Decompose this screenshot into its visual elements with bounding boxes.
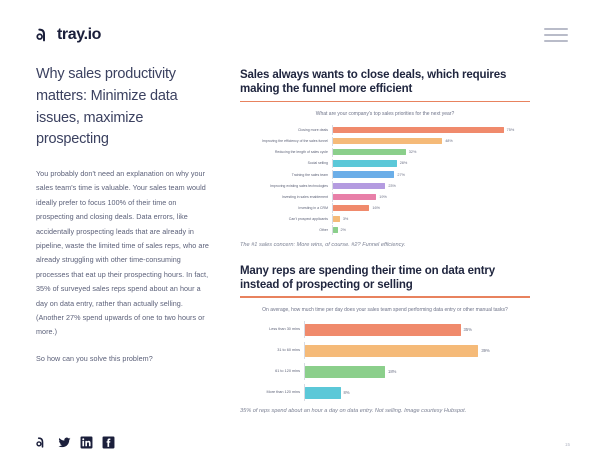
- chart-caption: 35% of reps spend about an hour a day on…: [240, 408, 530, 416]
- chart-category-label: Improving existing sales technologies: [240, 184, 332, 188]
- chart-bar-track: 23%: [332, 181, 530, 191]
- chart-category-label: Reducing the length of sales cycle: [240, 150, 332, 154]
- chart-bar-track: 16%: [332, 203, 530, 213]
- chart-value-label: 27%: [397, 173, 405, 177]
- chart-bar: [333, 160, 397, 166]
- chart-bar: [333, 183, 385, 189]
- brand-logo[interactable]: tray.io: [36, 26, 101, 44]
- chart-bar-track: 39%: [304, 342, 530, 359]
- chart-value-label: 2%: [341, 228, 347, 232]
- chart-bar-row: Improving the efficiency of the sales fu…: [240, 137, 530, 147]
- chart-category-label: Can't prospect applicants: [240, 217, 332, 221]
- chart-category-label: 61 to 120 mins: [240, 369, 304, 373]
- chart-category-label: Less than 30 mins: [240, 327, 304, 331]
- chart-bar: [305, 324, 461, 336]
- chart-bar-track: 2%: [332, 225, 530, 235]
- chart-bar-row: Can't prospect applicants3%: [240, 214, 530, 224]
- chart-category-label: Investing in a CRM: [240, 206, 332, 210]
- chart-value-label: 32%: [409, 150, 417, 154]
- facebook-icon[interactable]: [102, 436, 115, 449]
- section-title: Sales always wants to close deals, which…: [240, 68, 530, 97]
- chart-bar-track: 19%: [332, 192, 530, 202]
- chart-category-label: Improving the efficiency of the sales fu…: [240, 139, 332, 143]
- linkedin-icon[interactable]: [80, 436, 93, 449]
- article-paragraph: So how can you solve this problem?: [36, 352, 211, 366]
- brand-logo-text: tray.io: [57, 26, 101, 44]
- chart-bar: [333, 138, 442, 144]
- chart-title: On average, how much time per day does y…: [240, 307, 530, 315]
- chart-bar: [305, 387, 341, 399]
- chart-value-label: 35%: [464, 327, 472, 332]
- chart-bar-track: 32%: [332, 148, 530, 158]
- chart-section-1: Sales always wants to close deals, which…: [240, 68, 530, 250]
- chart-bar: [305, 366, 385, 378]
- chart-category-label: Training the sales team: [240, 173, 332, 177]
- article-paragraph: You probably don't need an explanation o…: [36, 167, 211, 340]
- chart-value-label: 3%: [343, 217, 349, 221]
- chart-bar-row: Other2%: [240, 225, 530, 235]
- chart-bar: [333, 127, 504, 133]
- section-divider: [240, 101, 530, 102]
- chart-value-label: 75%: [507, 128, 515, 132]
- chart-value-label: 39%: [481, 348, 489, 353]
- chart-value-label: 28%: [400, 161, 408, 165]
- chart-bar-row: Closing more deals75%: [240, 125, 530, 135]
- chart-value-label: 23%: [388, 184, 396, 188]
- chart-bar-row: More than 120 mins8%: [240, 384, 530, 401]
- chart-category-label: 31 to 60 mins: [240, 348, 304, 352]
- section-title: Many reps are spending their time on dat…: [240, 264, 530, 293]
- page-number: 15: [565, 442, 570, 447]
- chart-category-label: Other: [240, 228, 332, 232]
- chart-category-label: Investing in sales enablement: [240, 195, 332, 199]
- chart-bar: [333, 216, 340, 222]
- chart-bar-track: 75%: [332, 125, 530, 135]
- chart-value-label: 16%: [372, 206, 380, 210]
- hamburger-line: [544, 28, 568, 30]
- twitter-icon[interactable]: [58, 436, 71, 449]
- chart-bar: [305, 345, 478, 357]
- chart-bar-track: 48%: [332, 137, 530, 147]
- charts-column: Sales always wants to close deals, which…: [240, 68, 530, 424]
- chart-value-label: 8%: [344, 390, 350, 395]
- chart-bar-row: Less than 30 mins35%: [240, 321, 530, 338]
- chart-value-label: 19%: [379, 195, 387, 199]
- hamburger-line: [544, 40, 568, 42]
- chart-category-label: Closing more deals: [240, 128, 332, 132]
- hamburger-line: [544, 34, 568, 36]
- page-title: Why sales productivity matters: Minimize…: [36, 64, 211, 151]
- tray-logo-icon: [36, 27, 52, 43]
- chart-bar-track: 27%: [332, 170, 530, 180]
- chart-bar-row: Reducing the length of sales cycle32%: [240, 148, 530, 158]
- chart-bar: [333, 227, 338, 233]
- chart-section-2: Many reps are spending their time on dat…: [240, 264, 530, 416]
- chart-bar-row: Social selling28%: [240, 159, 530, 169]
- bar-chart-sales-priorities: Closing more deals75%Improving the effic…: [240, 125, 530, 234]
- chart-bar-row: Investing in a CRM16%: [240, 203, 530, 213]
- chart-bar-row: Training the sales team27%: [240, 170, 530, 180]
- chart-bar: [333, 171, 394, 177]
- chart-bar: [333, 149, 406, 155]
- chart-bar-track: 18%: [304, 363, 530, 380]
- chart-bar-row: 31 to 60 mins39%: [240, 342, 530, 359]
- chart-bar-track: 35%: [304, 321, 530, 338]
- chart-bar: [333, 194, 376, 200]
- chart-value-label: 18%: [388, 369, 396, 374]
- tray-logo-icon[interactable]: [36, 436, 49, 449]
- document-page: tray.io Why sales productivity matters: …: [0, 0, 600, 463]
- section-divider: [240, 296, 530, 297]
- chart-category-label: More than 120 mins: [240, 390, 304, 394]
- chart-bar-row: Investing in sales enablement19%: [240, 192, 530, 202]
- chart-bar-row: Improving existing sales technologies23%: [240, 181, 530, 191]
- chart-bar-row: 61 to 120 mins18%: [240, 363, 530, 380]
- article-column: Why sales productivity matters: Minimize…: [36, 64, 211, 366]
- chart-bar-track: 8%: [304, 384, 530, 401]
- chart-category-label: Social selling: [240, 161, 332, 165]
- chart-bar-track: 3%: [332, 214, 530, 224]
- chart-bar-track: 28%: [332, 159, 530, 169]
- hamburger-menu-icon[interactable]: [544, 28, 568, 42]
- chart-title: What are your company's top sales priori…: [240, 111, 530, 119]
- bar-chart-time-spent: Less than 30 mins35%31 to 60 mins39%61 t…: [240, 321, 530, 401]
- chart-bar: [333, 205, 369, 211]
- chart-caption: The #1 sales concern: More wins, of cour…: [240, 242, 530, 250]
- social-footer: [36, 436, 115, 449]
- chart-value-label: 48%: [445, 139, 453, 143]
